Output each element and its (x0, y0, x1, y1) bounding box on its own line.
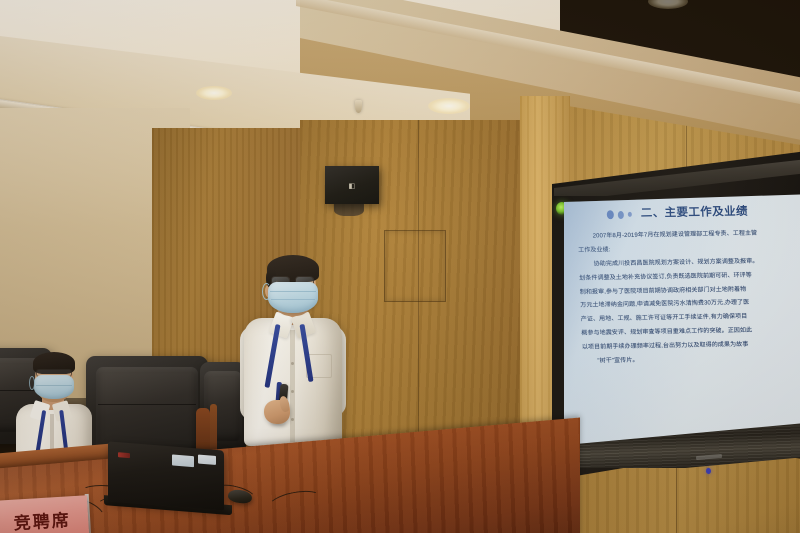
face-mask-icon (268, 282, 318, 313)
slide-line: 以项目前期手续办理频率过程,台出努力以及取得的成果为故事 (580, 341, 800, 352)
wall-access-panel (384, 230, 446, 302)
ceiling-downlight (428, 98, 470, 114)
desk-sign-label: 竞聘席 (13, 505, 71, 533)
slide-line: 制和报审,参与了医院项目前期协调政府相关部门对土地附着物 (578, 285, 800, 296)
shirt-placket (290, 330, 295, 442)
display-status-dot (706, 468, 712, 474)
bullet-dot-large (607, 210, 614, 219)
face-mask-icon (34, 375, 74, 399)
mask-ear-loop (262, 283, 271, 300)
desk-sign-card: 竞聘席 (0, 495, 89, 533)
presentation-display[interactable]: 二、主要工作及业绩 2007年8月-2019年7月在规划建设管理部工程专责、工程… (548, 150, 800, 480)
slide-line: 概参与地震安评、规划审查等项目重难点工作的突破。正因如此 (579, 327, 800, 338)
laptop-sticker (172, 454, 194, 467)
slide-line: "树干"宣传片。 (580, 354, 800, 365)
slide-line: 协助完成川投西昌医院规划方案设计、规划方案调整及报审。 (577, 257, 800, 268)
wall-speaker: ◧ (325, 166, 379, 204)
sprinkler-head-icon (355, 100, 362, 113)
slide-line: 2007年8月-2019年7月在规划建设管理部工程专责、工程主管 (576, 229, 800, 240)
ceiling-downlight (196, 86, 232, 100)
slide-line: 产证、用地、工规、施工许可证等开工手续证件,有力确保项目 (579, 313, 800, 324)
mask-fold (36, 385, 72, 386)
slide-bullet-dots (607, 210, 632, 219)
speaker-bracket (334, 202, 364, 216)
mask-ear-loop (29, 376, 35, 390)
chair-seam (98, 404, 196, 405)
conference-room-scene: ◧ 二、主要工作及业绩 2007年8月-2019年7月在规划建设管理部工程专责、… (0, 0, 800, 533)
chair-backrest-pad (96, 367, 198, 453)
ceiling-downlight (648, 0, 688, 9)
bullet-dot-medium (618, 210, 624, 218)
slide-line: 工作及业绩: (576, 243, 800, 254)
slide-body-text: 2007年8月-2019年7月在规划建设管理部工程专责、工程主管 工作及业绩: … (576, 229, 800, 372)
laptop-lid (108, 441, 224, 510)
speaker-logo-icon: ◧ (348, 182, 355, 190)
slide-line: 万元土地滞纳金问题,申请减免医院污水清掏费30万元,办理了医 (578, 299, 800, 310)
laptop-brand-logo-icon (118, 452, 130, 458)
slide-content: 二、主要工作及业绩 2007年8月-2019年7月在规划建设管理部工程专责、工程… (564, 194, 800, 466)
slide-line: 划条件调整及土地补充协议签订,负责既选医院前期可研、环评等 (577, 271, 800, 282)
mask-fold (270, 291, 316, 292)
laptop-sticker (198, 455, 216, 465)
bullet-dot-small (628, 212, 632, 217)
mask-fold (271, 299, 315, 300)
laptop[interactable] (108, 441, 224, 512)
slide-heading: 二、主要工作及业绩 (640, 203, 748, 221)
